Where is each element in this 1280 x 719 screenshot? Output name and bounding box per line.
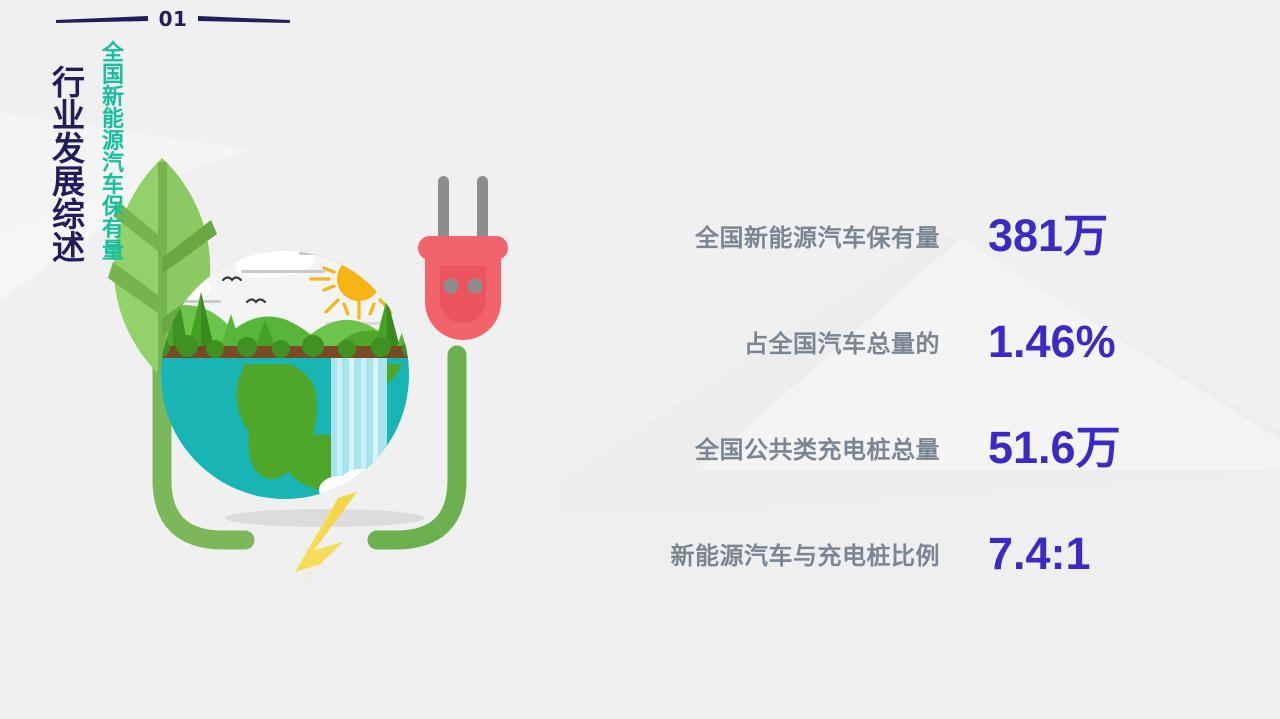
stat-label: 新能源汽车与充电桩比例 xyxy=(600,536,940,571)
stat-label: 占全国汽车总量的 xyxy=(600,324,940,359)
plug-dot-right xyxy=(468,279,483,294)
eco-energy-illustration xyxy=(95,140,565,600)
plug-collar xyxy=(418,236,508,260)
stat-value: 381万 xyxy=(940,213,1180,258)
stat-row-3: 全国公共类充电桩总量 51.6万 xyxy=(600,394,1180,500)
page-subtitle: 全国新能源汽车保有量 xyxy=(102,42,125,264)
power-plug-icon xyxy=(418,176,508,340)
plug-prong-left xyxy=(438,176,449,244)
stat-value: 1.46% xyxy=(940,319,1180,364)
stat-label: 全国公共类充电桩总量 xyxy=(600,430,940,465)
title-row: 行业发展综述 全国新能源汽车保有量 xyxy=(52,42,125,264)
slide-root: 01 行业发展综述 全国新能源汽车保有量 xyxy=(0,0,1280,719)
plug-prong-right xyxy=(477,176,488,244)
stats-list: 全国新能源汽车保有量 381万 占全国汽车总量的 1.46% 全国公共类充电桩总… xyxy=(600,182,1180,606)
stat-value: 7.4:1 xyxy=(940,531,1180,576)
stat-row-2: 占全国汽车总量的 1.46% xyxy=(600,288,1180,394)
plug-dot-left xyxy=(444,279,459,294)
stat-row-1: 全国新能源汽车保有量 381万 xyxy=(600,182,1180,288)
stat-value: 51.6万 xyxy=(940,425,1180,470)
chapter-number: 01 xyxy=(149,7,198,31)
lightning-bolt-icon xyxy=(283,492,357,600)
stat-label: 全国新能源汽车保有量 xyxy=(600,218,940,253)
page-title: 行业发展综述 xyxy=(52,66,86,264)
plug-inner-panel xyxy=(440,266,486,323)
stat-row-4: 新能源汽车与充电桩比例 7.4:1 xyxy=(600,500,1180,606)
chapter-badge: 01 xyxy=(48,4,298,34)
